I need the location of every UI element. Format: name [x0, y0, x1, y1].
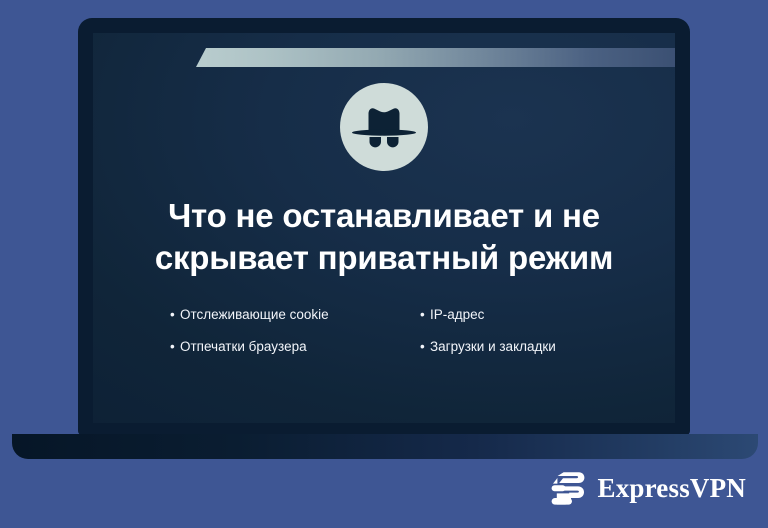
laptop-screen: Что не останавливает и не скрывает прива… [93, 33, 675, 423]
brand-logo: ExpressVPN [551, 470, 746, 506]
laptop-bezel: Что не останавливает и не скрывает прива… [78, 18, 690, 435]
bullet-dot-icon: • [170, 308, 180, 322]
list-item: • IP-адрес [420, 307, 620, 323]
expressvpn-e-mark-icon [551, 470, 585, 506]
header-accent-bar [196, 48, 675, 67]
slide-canvas: Что не останавливает и не скрывает прива… [0, 0, 768, 528]
list-item: • Загрузки и закладки [420, 339, 620, 355]
page-title: Что не останавливает и не скрывает прива… [123, 195, 645, 279]
laptop-base [12, 434, 758, 459]
list-item-label: Отслеживающие cookie [180, 307, 329, 323]
list-item-label: Загрузки и закладки [430, 339, 556, 355]
list-item-label: Отпечатки браузера [180, 339, 307, 355]
bullet-dot-icon: • [420, 308, 430, 322]
brand-name: ExpressVPN [597, 475, 746, 502]
incognito-icon [340, 83, 428, 171]
bullet-dot-icon: • [420, 340, 430, 354]
list-item: • Отпечатки браузера [148, 339, 378, 355]
bullet-column-right: • IP-адрес • Загрузки и закладки [420, 307, 620, 355]
bullet-column-left: • Отслеживающие cookie • Отпечатки брауз… [148, 307, 378, 355]
incognito-icon-wrapper [93, 83, 675, 171]
list-item-label: IP-адрес [430, 307, 484, 323]
bullet-list: • Отслеживающие cookie • Отпечатки брауз… [93, 307, 675, 355]
bullet-dot-icon: • [170, 340, 180, 354]
list-item: • Отслеживающие cookie [148, 307, 378, 323]
